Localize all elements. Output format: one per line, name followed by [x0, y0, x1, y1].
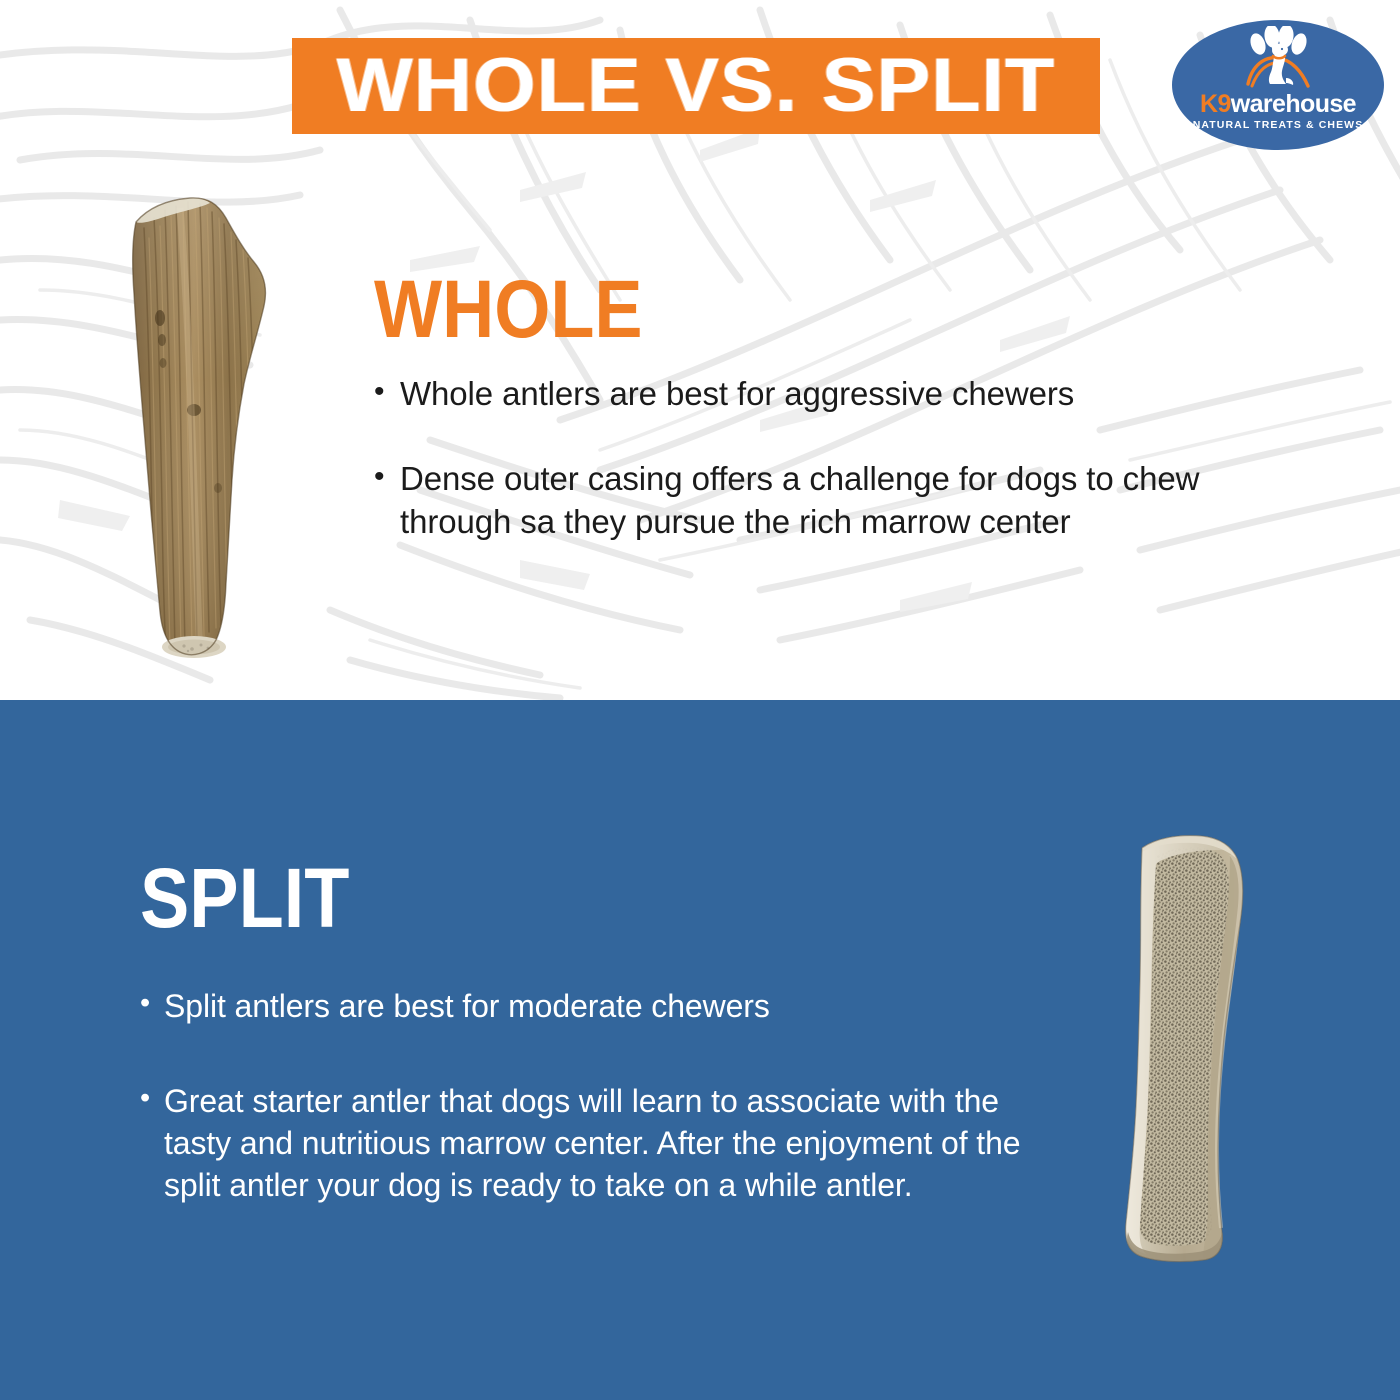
whole-bullet-1: Whole antlers are best for aggressive ch…: [374, 373, 1304, 416]
split-section: SPLIT Split antlers are best for moderat…: [0, 700, 1400, 1400]
header-banner: WHOLE VS. SPLIT: [292, 38, 1100, 134]
split-bullet-list: Split antlers are best for moderate chew…: [140, 985, 1060, 1206]
infographic-root: WHOLE VS. SPLIT: [0, 0, 1400, 1400]
whole-bullet-2: Dense outer casing offers a challenge fo…: [374, 458, 1304, 544]
page-title: WHOLE VS. SPLIT: [337, 48, 1056, 124]
split-bullet-2: Great starter antler that dogs will lear…: [140, 1080, 1060, 1207]
split-bullet-1: Split antlers are best for moderate chew…: [140, 985, 1060, 1027]
logo-brand-primary: K9: [1200, 90, 1231, 118]
whole-bullet-list: Whole antlers are best for aggressive ch…: [374, 373, 1304, 544]
split-antler-image: [1094, 820, 1294, 1280]
paw-dog-icon: [1228, 26, 1328, 92]
whole-antler-image: [118, 188, 318, 666]
split-heading: SPLIT: [140, 860, 950, 937]
logo-wordmark: K9warehouse: [1172, 92, 1384, 117]
brand-logo[interactable]: K9warehouse NATURAL TREATS & CHEWS: [1172, 20, 1384, 150]
split-content-block: SPLIT Split antlers are best for moderat…: [140, 860, 1060, 1258]
whole-content-block: WHOLE Whole antlers are best for aggress…: [374, 272, 1304, 586]
whole-heading: WHOLE: [374, 272, 1192, 347]
logo-brand-secondary: warehouse: [1231, 90, 1356, 118]
whole-section: WHOLE VS. SPLIT: [0, 0, 1400, 700]
logo-tagline: NATURAL TREATS & CHEWS: [1172, 119, 1384, 131]
